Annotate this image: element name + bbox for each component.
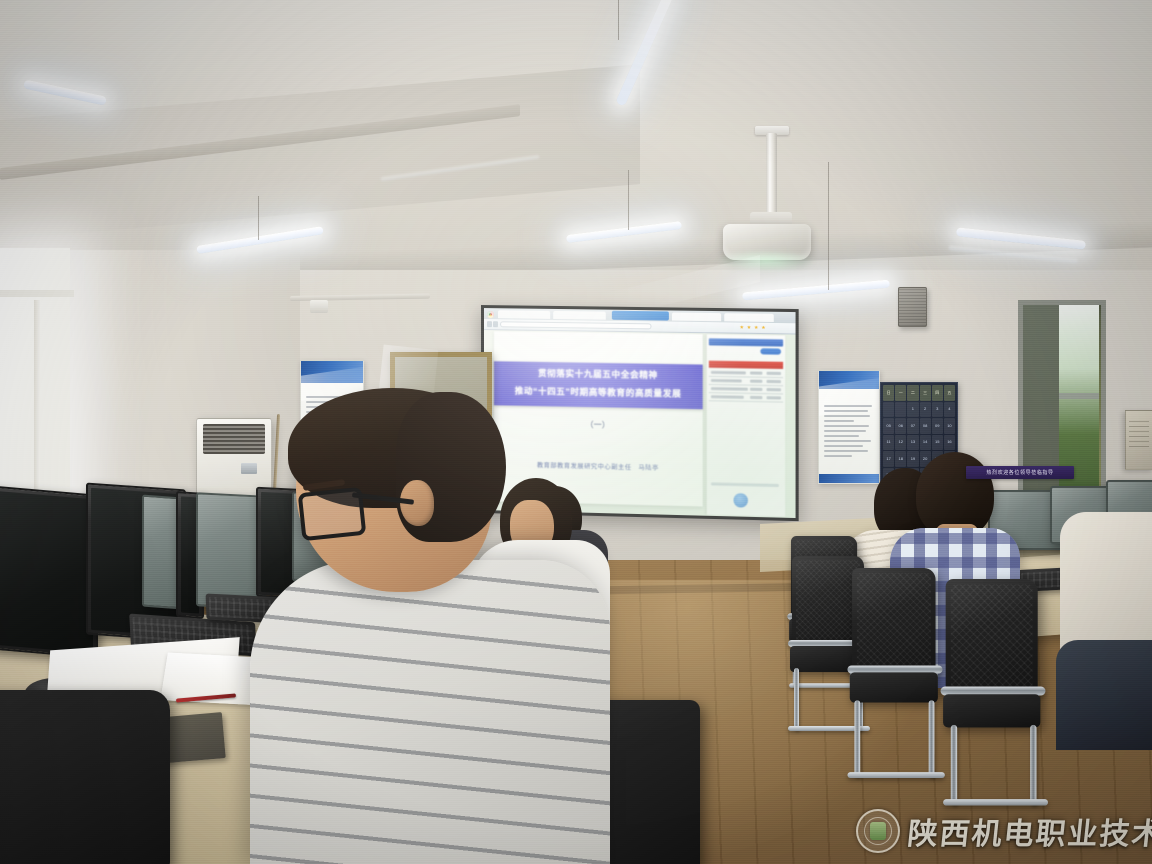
chrome-icon [487, 311, 494, 318]
mesh-chair-3[interactable] [845, 568, 945, 742]
screenshot-root: 贯彻落实十九届五中全会精神 推动“十四五”时期高等教育的高质量发展 （一） 教育… [0, 0, 1152, 864]
table-cell [750, 380, 762, 383]
browser-forward-button[interactable] [493, 321, 498, 327]
browser-tab-2[interactable] [553, 310, 606, 319]
foreground-chair[interactable] [0, 690, 170, 864]
wall-box-vents [1129, 421, 1149, 447]
chair-backrest [946, 579, 1038, 697]
side-panel-header [709, 338, 783, 346]
side-panel-table-header [709, 361, 783, 369]
calendar-day: 10 [944, 418, 955, 434]
far-right-attendee-lower [1056, 640, 1152, 750]
browser-back-button[interactable] [487, 321, 492, 327]
calendar-day: 3 [932, 402, 943, 418]
monitor-screen [0, 491, 93, 654]
ac-grille-icon [203, 424, 265, 454]
left-window-header [0, 290, 74, 297]
table-cell [750, 396, 762, 399]
calendar-day: 05 [883, 418, 894, 434]
chair-seat [850, 672, 938, 702]
calendar-header-cell: 日 [883, 385, 894, 401]
chair-foot-rail [943, 799, 1048, 805]
monitor-left-1 [0, 485, 98, 659]
chair-leg [1030, 725, 1036, 804]
table-cell [711, 371, 746, 375]
calendar-day: 06 [895, 418, 906, 434]
ceiling-light-5-wire [828, 162, 829, 290]
calendar-header-cell: 一 [895, 385, 906, 401]
table-cell [711, 379, 742, 383]
chair-mesh-texture [951, 584, 1033, 692]
ac-control-panel[interactable] [241, 463, 257, 474]
calendar-day: 2 [920, 402, 931, 418]
table-cell [750, 371, 762, 374]
projector-mount-pole [766, 133, 777, 217]
calendar-day: 17 [883, 451, 894, 467]
wall-speaker [898, 287, 927, 327]
table-cell [750, 388, 762, 391]
calendar-day: 11 [883, 435, 894, 451]
speaker-grille-icon [899, 288, 926, 326]
side-panel-badge-icon [734, 493, 748, 508]
calendar-day: 16 [944, 435, 955, 451]
right-window-crossbar [1059, 393, 1099, 399]
poster-right-footer [819, 474, 879, 483]
chair-leg [929, 700, 935, 777]
table-cell [767, 372, 781, 375]
calendar-day [895, 402, 906, 418]
chair-foot-rail [847, 772, 944, 778]
calendar-header-cell: 三 [920, 385, 931, 401]
calendar-header-cell: 五 [944, 385, 955, 401]
slide-title-band: 贯彻落实十九届五中全会精神 推动“十四五”时期高等教育的高质量发展 [494, 361, 703, 409]
ceiling-light-4-wire [628, 170, 629, 230]
chair-backrest [852, 568, 936, 675]
calendar-header-row: 日 一 二 三 四 五 [883, 385, 955, 401]
calendar-day: 1 [907, 402, 918, 418]
table-row[interactable] [709, 386, 783, 394]
slide-title-line2: 推动“十四五”时期高等教育的高质量发展 [494, 384, 703, 400]
chair-leg [951, 725, 957, 804]
browser-tab-active[interactable] [612, 311, 669, 321]
table-cell [767, 380, 781, 383]
table-cell [767, 396, 781, 399]
welcome-banner: 热烈欢迎各位领导莅临指导 [966, 466, 1074, 479]
calendar-day: 08 [920, 418, 931, 434]
calendar-day: 19 [907, 451, 918, 467]
calendar-day: 15 [932, 435, 943, 451]
calendar-header-cell: 二 [907, 385, 918, 401]
calendar-day: 14 [920, 435, 931, 451]
table-cell [711, 395, 744, 399]
wall-outlet[interactable] [310, 300, 328, 313]
calendar-week-row: 11 12 13 14 15 16 [883, 435, 955, 451]
calendar-day: 4 [944, 402, 955, 418]
poster-right-body [824, 405, 874, 460]
browser-tab-4[interactable] [672, 312, 721, 321]
browser-tab-5[interactable] [724, 313, 774, 322]
slide-subtitle: （一） [494, 417, 703, 432]
calendar-week-row: 1 2 3 4 [883, 402, 955, 418]
table-row[interactable] [709, 370, 783, 378]
slide-presenter: 教育部教育发展研究中心副主任 马陆亭 [494, 459, 703, 473]
poster-right [818, 370, 880, 484]
foreground-student-shirt-stripes [250, 560, 610, 864]
calendar-day: 07 [907, 418, 918, 434]
mesh-chair-4[interactable] [938, 579, 1048, 771]
calendar-day: 18 [895, 451, 906, 467]
ceiling-light-3-wire [258, 196, 259, 240]
ceiling-light-1-wire [618, 0, 619, 40]
projector-lamp-glow [716, 250, 816, 272]
table-row[interactable] [709, 394, 783, 402]
projection-side-panel [707, 334, 785, 516]
chair-seat [943, 694, 1040, 727]
calendar-header-cell: 四 [932, 385, 943, 401]
table-row[interactable] [709, 378, 783, 386]
table-cell [711, 387, 748, 391]
browser-tab-1[interactable] [498, 310, 550, 319]
calendar-week-row: 05 06 07 08 09 10 [883, 418, 955, 434]
chair-leg [794, 668, 799, 730]
table-cell [767, 388, 781, 391]
chair-mesh-texture [857, 573, 931, 670]
side-panel-footer-text [711, 482, 779, 487]
calendar-day: 13 [907, 435, 918, 451]
side-panel-action-button[interactable] [760, 348, 781, 354]
calendar-day: 12 [895, 435, 906, 451]
calendar-day [883, 402, 894, 418]
slide-title-line1: 贯彻落实十九届五中全会精神 [494, 366, 703, 382]
wall-mounted-box [1125, 410, 1152, 470]
chair-leg [854, 700, 860, 777]
calendar-day: 09 [932, 418, 943, 434]
